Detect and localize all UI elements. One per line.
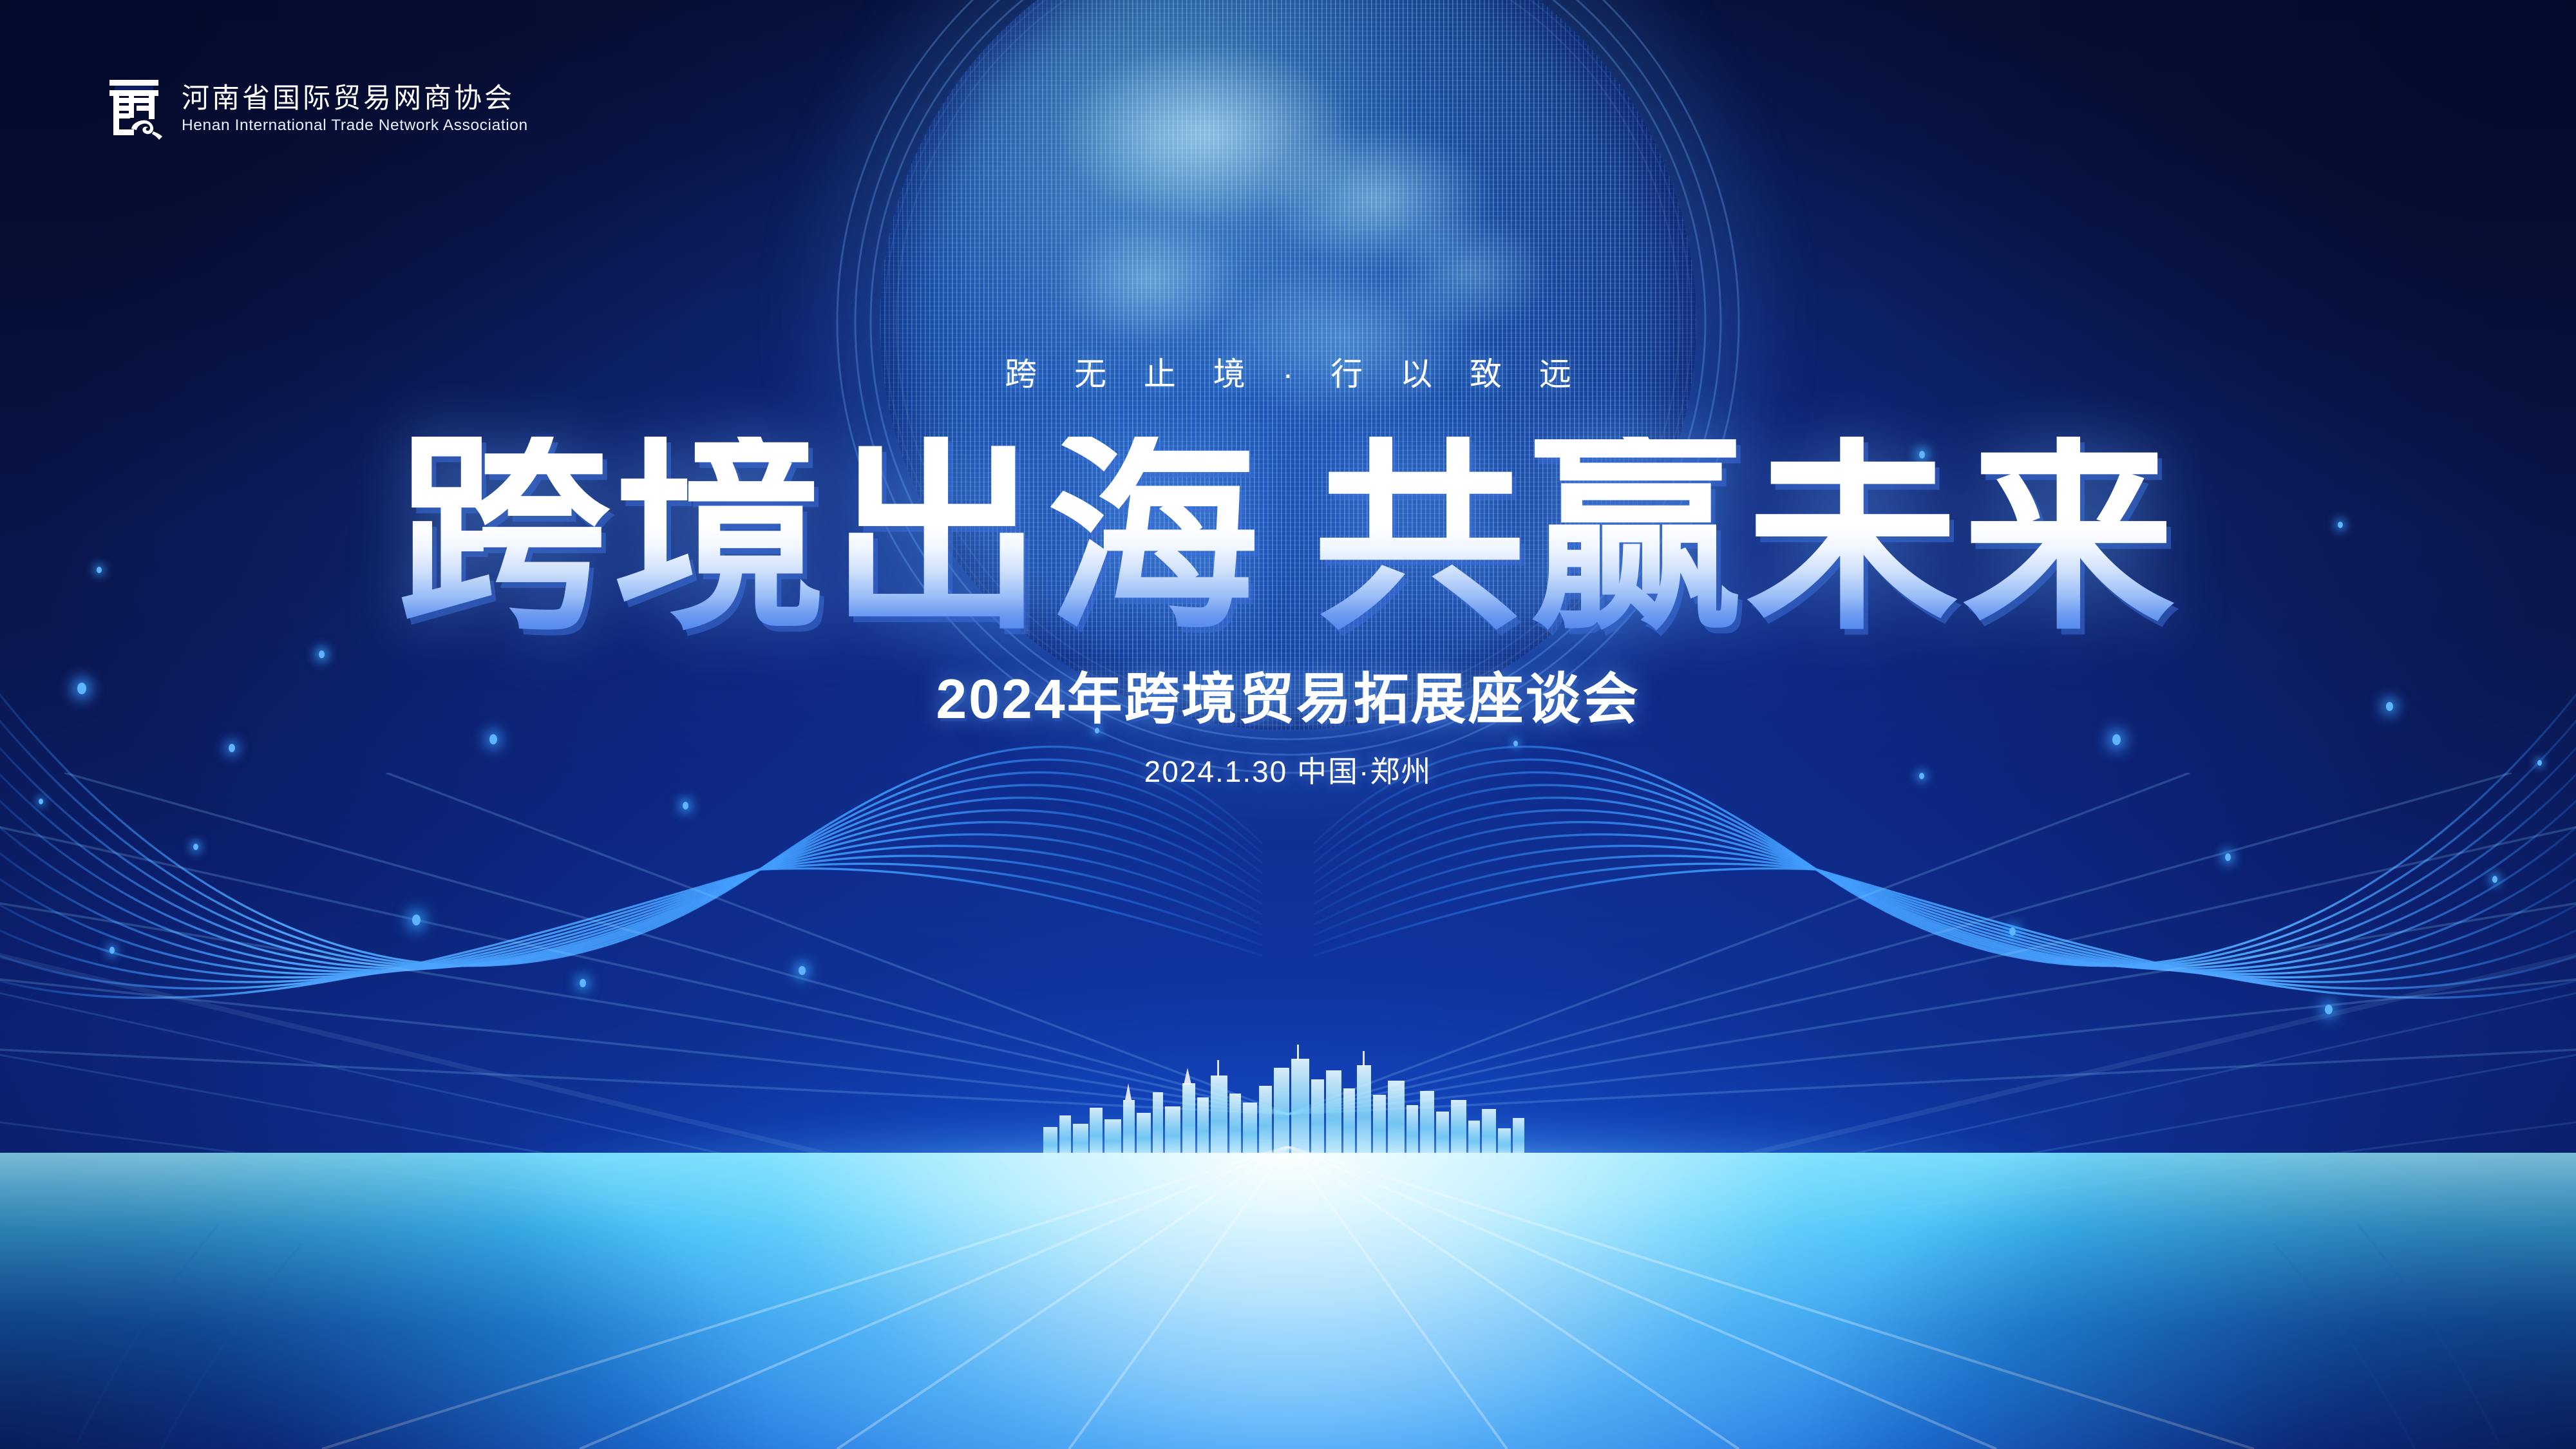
- event-poster: 河南省国际贸易网商协会 Henan International Trade Ne…: [0, 0, 2576, 1449]
- event-subtitle: 2024年跨境贸易拓展座谈会: [936, 672, 1640, 727]
- main-title: 跨境出海 共赢未来: [397, 437, 2179, 634]
- poster-content: 跨 无 止 境 · 行 以 致 远 跨境出海 共赢未来 2024年跨境贸易拓展座…: [0, 0, 2576, 786]
- event-date-location: 2024.1.30 中国·郑州: [1144, 757, 1432, 786]
- tagline: 跨 无 止 境 · 行 以 致 远: [990, 358, 1586, 390]
- main-title-part1: 跨境出海: [397, 437, 1263, 634]
- main-title-part2: 共赢未来: [1313, 437, 2179, 634]
